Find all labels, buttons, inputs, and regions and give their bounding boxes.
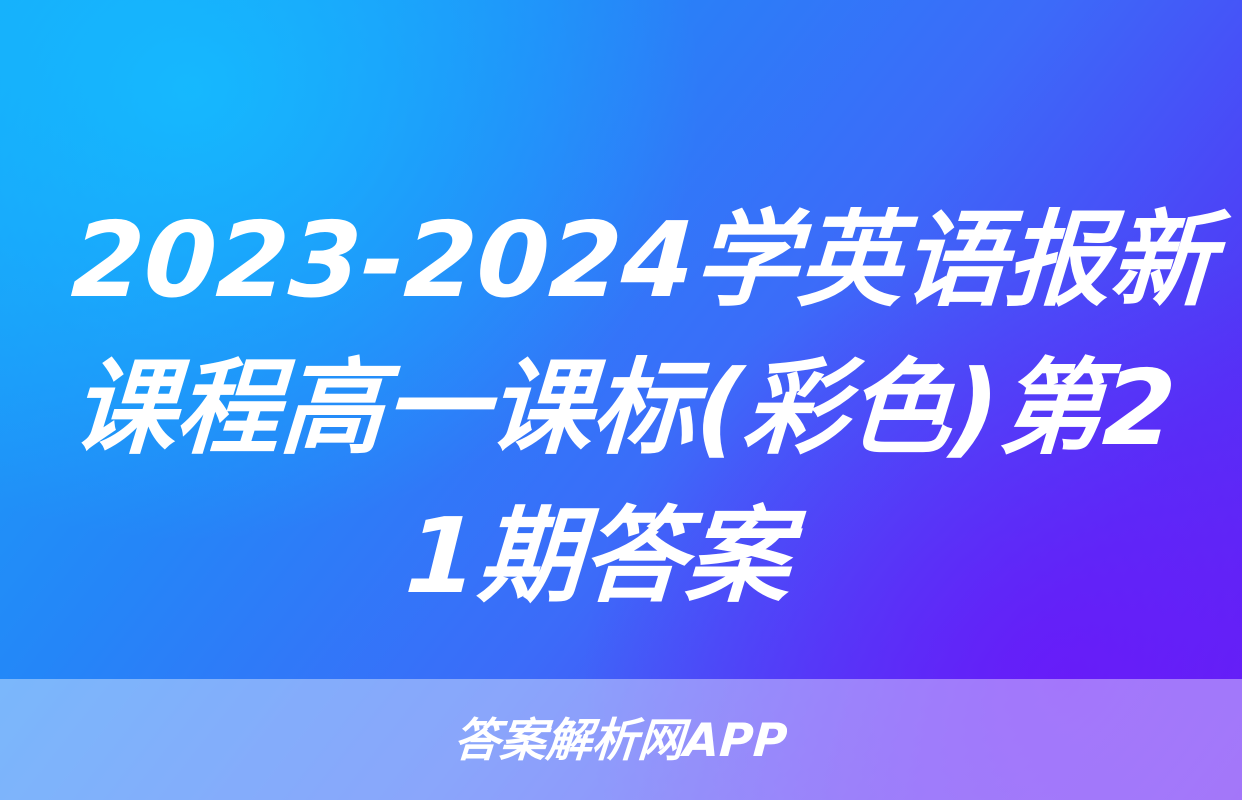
title-line-2-segment-1: 课程 (68, 334, 284, 482)
title-line-3: 1期答案 (68, 482, 1176, 630)
page-title: 2023-2024 学英语报 新 课程 高一课标(彩色)第2 1期答案 (72, 186, 1172, 630)
title-line-2: 课程 高一课标(彩色)第2 (68, 334, 1176, 482)
title-line-3-segment-1: 1期答案 (402, 482, 794, 630)
title-line-1-segment-1: 2023-2024 (68, 186, 698, 334)
title-line-1-segment-3: 新 (1106, 186, 1218, 334)
title-line-1-segment-2: 学英语报 (690, 186, 1114, 334)
title-line-2-segment-2: 高一课标(彩色)第2 (276, 334, 1179, 482)
watermark-label: 答案解析网APP (453, 717, 789, 763)
watermark-band: 答案解析网APP (0, 679, 1242, 800)
title-line-1: 2023-2024 学英语报 新 (68, 186, 1176, 334)
promo-banner: 2023-2024 学英语报 新 课程 高一课标(彩色)第2 1期答案 答案解析… (0, 0, 1242, 800)
